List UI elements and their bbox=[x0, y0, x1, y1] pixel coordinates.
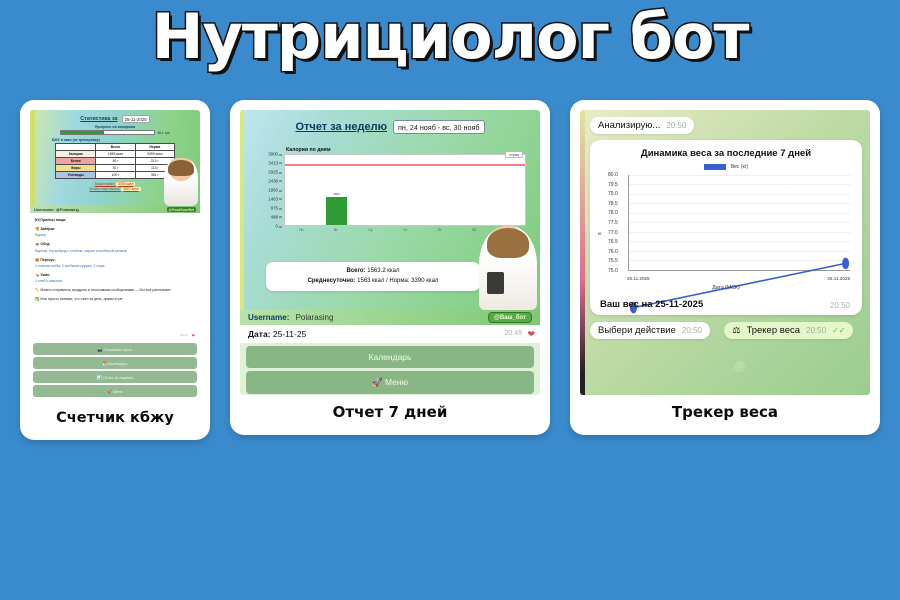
c2-plot-area: норма 1563 bbox=[284, 154, 526, 226]
c3-x-right: 25.11.2025 bbox=[827, 276, 850, 281]
card-kbzhu-counter[interactable]: Статистика за 25-11-2025 Прогресс по кал… bbox=[20, 100, 210, 440]
c3-weight-footer: Ваш вес на 25-11-2025 20:50 bbox=[596, 297, 856, 310]
c2-accent-bar bbox=[240, 110, 244, 310]
c1-accent-bar bbox=[30, 110, 35, 206]
table-row: Жиры 92 г 113 г bbox=[56, 165, 175, 172]
c1-stats-title: Статистика за bbox=[80, 116, 117, 122]
c3-y-tick: 78.5 bbox=[608, 201, 618, 207]
weight-line-chart: кг 80.079.579.078.578.077.577.076.576.07… bbox=[596, 173, 856, 293]
c1-macros-table: Всего Норма Калории 1563 ккал 3390 ккал … bbox=[55, 143, 175, 179]
c2-x-tick: Вт bbox=[334, 228, 338, 232]
c2-bar-label: 1563 bbox=[333, 192, 340, 196]
person-photo bbox=[479, 226, 537, 310]
c1-hint-chat: ✅ Или просто напиши, что съел за день, п… bbox=[35, 296, 195, 302]
card-weekly-report[interactable]: Отчет за неделю пн, 24 нояб - вс, 30 ноя… bbox=[230, 100, 550, 435]
table-row: Углеводы 100 г 381 г bbox=[56, 172, 175, 179]
c3-bubble-analyzing: Анализирую... 20:50 bbox=[590, 117, 694, 134]
c3-data-point bbox=[842, 258, 849, 269]
c2-y-tick: 3900 bbox=[268, 152, 278, 157]
c2-y-tick: 1950 bbox=[268, 188, 278, 193]
c1-button-send-photo[interactable]: 📷 Отправить фото bbox=[33, 343, 197, 355]
c3-y-tick: 75.5 bbox=[608, 258, 618, 264]
c2-summary-box: Всего: 1563.2 ккал Среднесуточно: 1563 к… bbox=[266, 262, 480, 291]
c3-accent-bar bbox=[580, 110, 585, 395]
c3-legend: Вес (кг) bbox=[596, 164, 856, 170]
c3-y-unit: кг bbox=[598, 231, 602, 236]
c2-y-tick: 0 bbox=[276, 224, 278, 229]
c3-y-tick: 78.0 bbox=[608, 210, 618, 216]
c1-bot-badge: @FoodScanBot bbox=[167, 207, 196, 212]
c2-y-axis: 3900341329252438195014639754880 bbox=[254, 154, 282, 226]
c1-progress-label: Прогресс по калориям bbox=[30, 125, 200, 129]
c3-y-tick: 75.0 bbox=[608, 268, 618, 274]
list-item: 🍲 Обед: Картоф, Бутерброд с хлебом, сыро… bbox=[35, 241, 195, 253]
c3-y-tick: 80.0 bbox=[608, 172, 618, 178]
c2-x-tick: Пн bbox=[299, 228, 303, 232]
c2-x-tick: Сб bbox=[472, 228, 476, 232]
c2-total-line: Всего: 1563.2 ккал bbox=[274, 267, 472, 277]
legend-swatch bbox=[704, 164, 726, 170]
table-header-row: Всего Норма bbox=[56, 144, 175, 151]
c3-x-title: Дата (МСК) bbox=[596, 285, 856, 291]
c1-message-bubble: 🍽 Приёмы пищи: 🥞 Завтрак: Бургер 🍲 Обед:… bbox=[30, 213, 200, 341]
c2-button-menu[interactable]: 🚀 Меню bbox=[246, 371, 534, 394]
c2-y-tick: 975 bbox=[271, 206, 278, 211]
screenshot-weekly-report: Отчет за неделю пн, 24 нояб - вс, 30 ноя… bbox=[240, 110, 540, 395]
c1-button-weekly-report[interactable]: 📊 Отчет за неделю bbox=[33, 371, 197, 383]
c2-keyboard: Календарь 🚀 Меню bbox=[240, 343, 540, 395]
c2-norm-line bbox=[285, 164, 525, 166]
card-weight-tracker[interactable]: Анализирую... 20:50 Динамика веса за пос… bbox=[570, 100, 880, 435]
c2-y-tick: 2925 bbox=[268, 170, 278, 175]
calories-bar-chart: Калории по дням 390034132925243819501463… bbox=[254, 148, 526, 240]
c2-avg-line: Среднесуточно: 1563 ккал / Норма: 3390 к… bbox=[274, 277, 472, 287]
c2-legend: норма bbox=[505, 151, 523, 158]
c1-table-caption: БЖУ и ккал (за тренировку) bbox=[52, 138, 200, 142]
list-item: 🍗 Ужин: 1 хлеб с маслом bbox=[35, 272, 195, 284]
c1-progress-value: 46.1 грн bbox=[157, 131, 170, 135]
c3-chart-title: Динамика веса за последние 7 дней bbox=[596, 148, 856, 159]
c1-th-total: Всего bbox=[96, 144, 135, 151]
c2-hero: Отчет за неделю пн, 24 нояб - вс, 30 ноя… bbox=[240, 110, 540, 310]
c1-button-menu[interactable]: 🚀 Меню bbox=[33, 385, 197, 397]
c1-stats-date: 25-11-2025 bbox=[122, 115, 150, 123]
c3-chart-card: Динамика веса за последние 7 дней Вес (к… bbox=[590, 140, 862, 315]
c3-y-tick: 79.0 bbox=[608, 191, 618, 197]
c1-th-norm: Норма bbox=[135, 144, 174, 151]
c2-y-tick: 1463 bbox=[268, 196, 278, 201]
c3-weight-time: 20:50 bbox=[830, 301, 850, 310]
c2-y-tick: 2438 bbox=[268, 178, 278, 183]
c3-y-tick: 76.0 bbox=[608, 249, 618, 255]
c2-date-row: Дата: 25-11-25 20:49 ❤ bbox=[240, 325, 540, 343]
card-caption-tracker: Трекер веса bbox=[580, 395, 870, 425]
c1-hint-voice: ✏️ Можно отправлять продукты и голосовым… bbox=[35, 287, 195, 293]
c1-meals-heading: 🍽 Приёмы пищи: bbox=[35, 217, 195, 223]
c3-y-tick: 77.5 bbox=[608, 220, 618, 226]
c2-report-title: Отчет за неделю bbox=[295, 121, 387, 133]
c1-button-calendar[interactable]: 📅 Календарь bbox=[33, 357, 197, 369]
c1-th-blank bbox=[56, 144, 96, 151]
card-caption-report: Отчет 7 дней bbox=[240, 395, 540, 425]
c3-y-tick: 76.5 bbox=[608, 239, 618, 245]
c3-y-tick: 77.0 bbox=[608, 230, 618, 236]
c1-hero: Статистика за 25-11-2025 Прогресс по кал… bbox=[30, 110, 200, 206]
screenshot-kbzhu: Статистика за 25-11-2025 Прогресс по кал… bbox=[30, 110, 200, 402]
c3-x-left: 25.11.2025 bbox=[627, 276, 650, 281]
person-photo bbox=[164, 158, 198, 206]
c2-chart-title: Калории по дням bbox=[286, 147, 331, 153]
c3-y-tick: 79.5 bbox=[608, 182, 618, 188]
c1-message-time: 20:47 bbox=[180, 333, 188, 338]
c1-username-row: Username: @Polarasing @FoodScanBot bbox=[30, 206, 200, 213]
c2-bar bbox=[326, 197, 348, 225]
c2-report-range: пн, 24 нояб - вс, 30 нояб bbox=[393, 120, 485, 134]
c1-progress-bar bbox=[60, 130, 155, 135]
screenshot-weight-tracker: Анализирую... 20:50 Динамика веса за пос… bbox=[580, 110, 870, 395]
c2-y-tick: 488 bbox=[271, 214, 278, 219]
c2-x-tick: Чт bbox=[403, 228, 407, 232]
c3-plot-area bbox=[628, 175, 850, 271]
c2-time: 20:49 bbox=[504, 330, 522, 337]
card-row: Статистика за 25-11-2025 Прогресс по кал… bbox=[0, 100, 900, 440]
heart-icon[interactable]: ❤ bbox=[192, 332, 195, 339]
table-row: Белки 80 г 212 г bbox=[56, 158, 175, 165]
c2-x-tick: Пт bbox=[438, 228, 442, 232]
c2-bot-badge: @Ваш_бот bbox=[488, 312, 532, 323]
c1-keyboard: 📷 Отправить фото 📅 Календарь 📊 Отчет за … bbox=[30, 341, 200, 399]
page-title: Нутрициолог бот bbox=[0, 0, 900, 68]
heart-icon[interactable]: ❤ bbox=[527, 329, 535, 340]
c2-x-tick: Ср bbox=[368, 228, 372, 232]
card-caption-kbzhu: Счетчик кбжу bbox=[30, 402, 200, 430]
list-item: 🍪 Перекус: 1 ломтик хлеба, 2 колбаски кр… bbox=[35, 257, 195, 269]
c2-y-tick: 3413 bbox=[268, 160, 278, 165]
table-row: Калории 1563 ккал 3390 ккал bbox=[56, 151, 175, 158]
c2-button-calendar[interactable]: Календарь bbox=[246, 346, 534, 368]
list-item: 🥞 Завтрак: Бургер bbox=[35, 226, 195, 238]
c2-username-row: Username: Polarasing @Ваш_бот bbox=[240, 310, 540, 325]
